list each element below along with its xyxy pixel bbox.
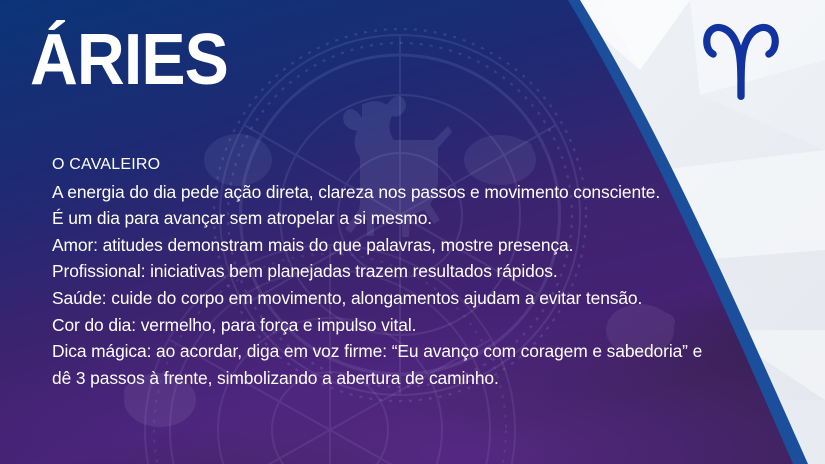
body-line-saude: Saúde: cuide do corpo em movimento, alon… bbox=[52, 285, 742, 312]
horoscope-card: ÁRIES O CAVALEIRO A energia do dia pede … bbox=[0, 0, 825, 464]
body-line-profissional: Profissional: iniciativas bem planejadas… bbox=[52, 258, 742, 285]
card-content: ÁRIES O CAVALEIRO A energia do dia pede … bbox=[0, 0, 825, 464]
sign-title: ÁRIES bbox=[30, 24, 228, 96]
horoscope-body: O CAVALEIRO A energia do dia pede ação d… bbox=[52, 152, 742, 391]
aries-glyph-icon bbox=[693, 8, 789, 104]
body-line-dica-magica-cont: dê 3 passos à frente, simbolizando a abe… bbox=[52, 365, 742, 392]
body-line-amor: Amor: atitudes demonstram mais do que pa… bbox=[52, 232, 742, 259]
body-line-avancar: É um dia para avançar sem atropelar a si… bbox=[52, 205, 742, 232]
body-line-cor-do-dia: Cor do dia: vermelho, para força e impul… bbox=[52, 312, 742, 339]
body-line-dica-magica: Dica mágica: ao acordar, diga em voz fir… bbox=[52, 338, 742, 365]
body-line-energia: A energia do dia pede ação direta, clare… bbox=[52, 179, 742, 206]
body-heading: O CAVALEIRO bbox=[52, 152, 742, 179]
